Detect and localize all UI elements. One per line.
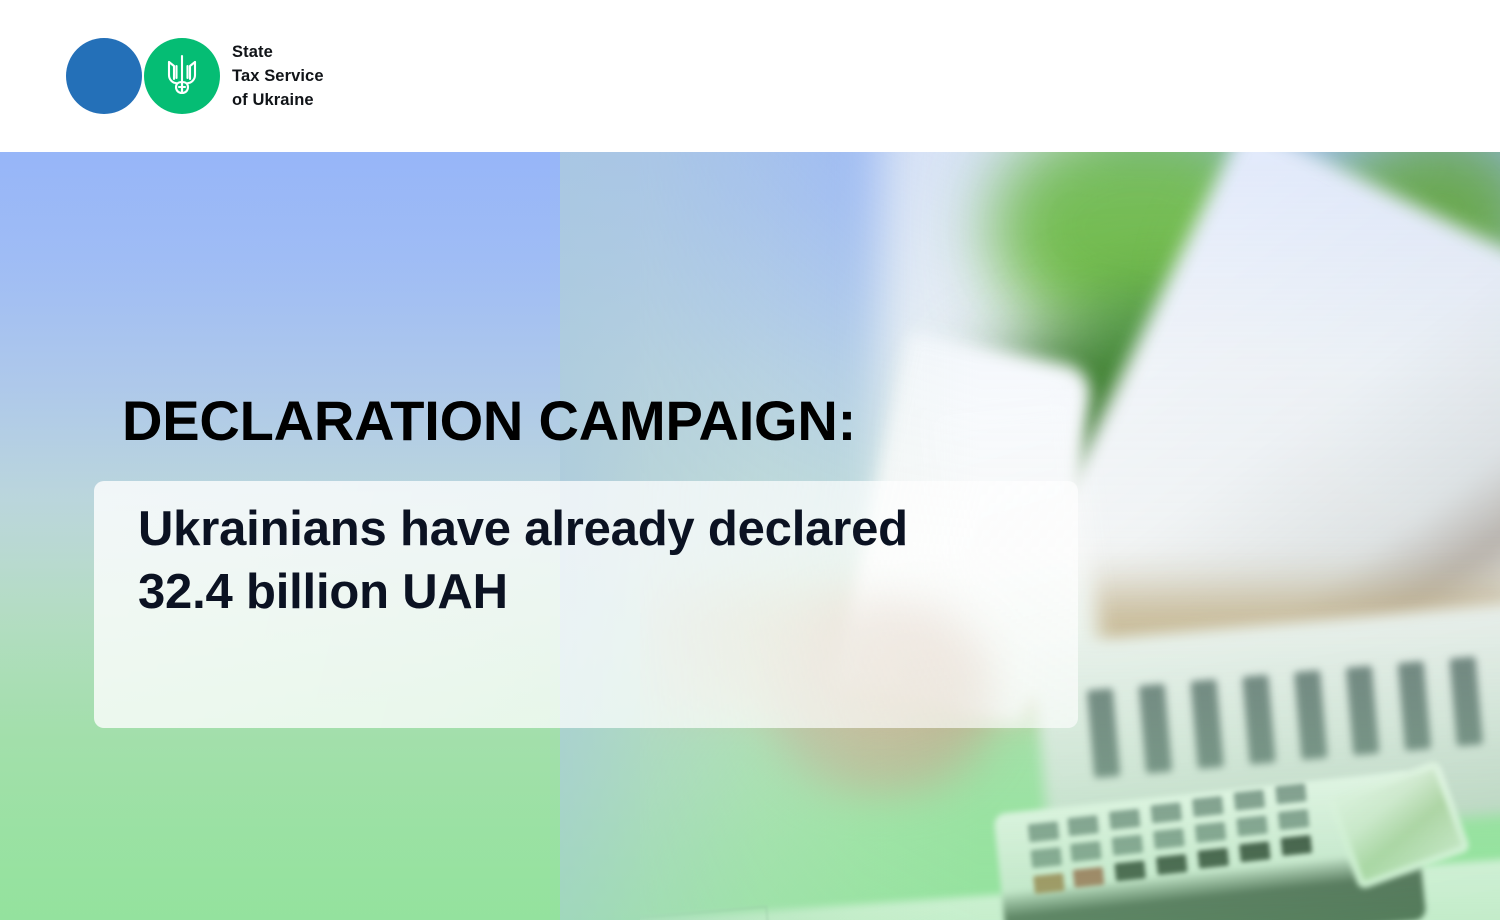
announcement-text: Ukrainians have already declared 32.4 bi… — [138, 498, 1038, 623]
ukraine-trident-icon — [161, 53, 203, 99]
blue-circle-icon — [66, 38, 142, 114]
page-title: DECLARATION CAMPAIGN: — [122, 392, 856, 451]
header-bar: State Tax Service of Ukraine — [0, 0, 1500, 152]
green-circle-trident-icon — [144, 38, 220, 114]
logo-marks — [66, 38, 218, 114]
organization-name: State Tax Service of Ukraine — [232, 40, 324, 112]
banner-root: State Tax Service of Ukraine DECLARATION… — [0, 0, 1500, 920]
logo-block[interactable]: State Tax Service of Ukraine — [66, 38, 324, 114]
